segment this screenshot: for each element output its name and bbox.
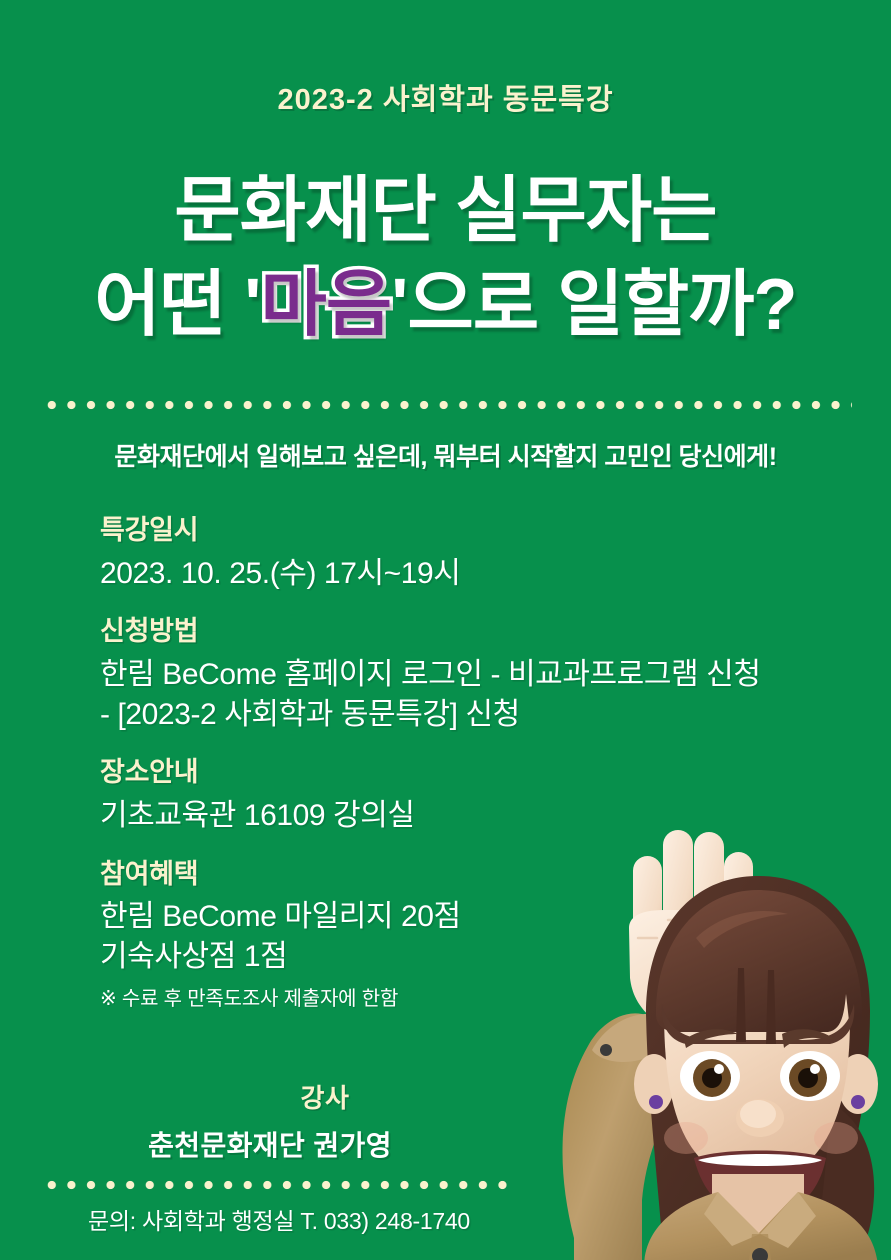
info-group-datetime: 특강일시 2023. 10. 25.(수) 17시~19시 [100,514,780,593]
dotted-divider-bottom [42,1180,510,1190]
info-label-application: 신청방법 [100,615,780,649]
poster-title-block: 문화재단 실무자는 어떤 '마음'으로 일할까? [0,168,891,350]
waving-memoji-girl-illustration [496,818,891,1260]
title-highlight-maeum: 마음 [260,265,391,345]
info-label-location: 장소안내 [100,756,780,790]
poster-canvas: 2023-2 사회학과 동문특강 문화재단 실무자는 어떤 '마음'으로 일할까… [0,0,891,1260]
poster-kicker: 2023-2 사회학과 동문특강 [0,76,891,118]
info-group-application: 신청방법 한림 BeCome 홈페이지 로그인 - 비교과프로그램 신청 - [… [100,615,780,734]
nose [736,1099,784,1137]
info-value-application-line-1: 한림 BeCome 홈페이지 로그인 - 비교과프로그램 신청 [100,655,780,695]
info-value-datetime-line-1: 2023. 10. 25.(수) 17시~19시 [100,554,780,594]
footer-contact: 문의: 사회학과 행정실 T. 033) 248-1740 [88,1202,470,1236]
info-label-datetime: 특강일시 [100,514,780,548]
dotted-divider-top [42,400,852,410]
poster-subtitle: 문화재단에서 일해보고 싶은데, 뭐부터 시작할지 고민인 당신에게! [0,437,891,473]
title-line-1: 문화재단 실무자는 [0,168,891,256]
title-line-2-suffix: '으로 일할까? [391,265,796,345]
title-line-2: 어떤 '마음'으로 일할까? [0,262,891,350]
title-line-2-prefix: 어떤 ' [94,265,260,345]
info-value-application-line-2: - [2023-2 사회학과 동문특강] 신청 [100,695,780,735]
